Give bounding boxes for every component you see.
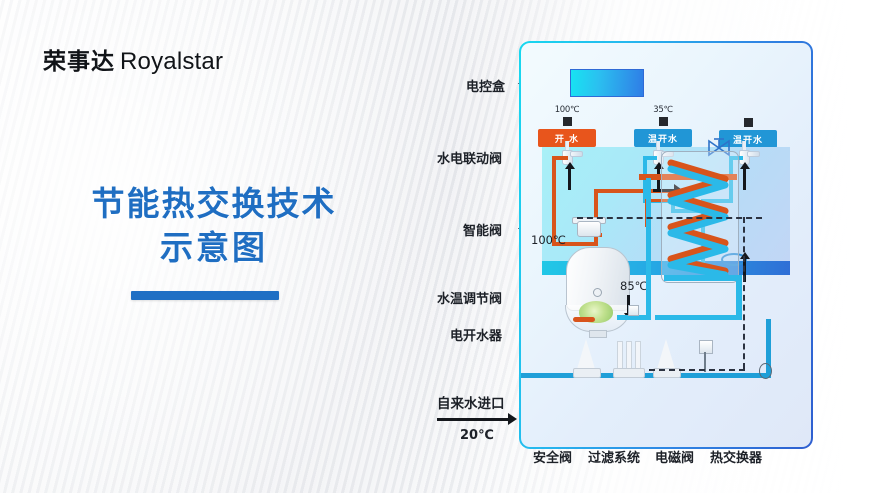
tap-3-temperature <box>719 105 777 116</box>
boiler-gauge-icon <box>593 288 602 297</box>
hx-bottom-run <box>655 315 742 320</box>
tap-3-indicator-dot <box>744 118 753 127</box>
label-water-inlet: 自来水进口 <box>437 392 505 412</box>
drain-outlet-port <box>759 363 772 379</box>
boiler-outlet-valve <box>628 305 639 316</box>
label-safety-valve: 安全阀 <box>533 447 572 466</box>
drain-dash-vertical <box>743 217 745 369</box>
tap-2-indicator-dot <box>659 117 668 126</box>
boiler-bottom-hot-pipe <box>573 317 595 322</box>
label-water-electric-valve: 水电联动阀 <box>437 148 502 167</box>
tap-2-temperature: 35℃ <box>634 105 692 115</box>
label-temp-regulating-valve: 水温调节阀 <box>437 288 502 307</box>
water-inlet-arrow-head <box>508 413 517 425</box>
brand-logo: 荣事达Royalstar <box>43 42 223 76</box>
inline-temp-100: 100℃ <box>531 233 566 247</box>
hx-bottom-outlet <box>664 275 742 281</box>
appliance-unit-frame: 100℃ 开 水 35℃ 温开水 温开水 <box>519 41 813 449</box>
diagram-canvas: 荣事达Royalstar 节能热交换技术 示意图 电控盒 水电联动阀 智能阀 水… <box>0 0 875 493</box>
cool-return-riser <box>646 178 651 320</box>
hx-outlet-riser <box>736 275 742 319</box>
brand-logo-chinese: 荣事达 <box>43 49 115 75</box>
page-title: 节能热交换技术 示意图 <box>64 182 364 270</box>
faucet-3-spout <box>747 151 760 157</box>
label-solenoid-valve: 电磁阀 <box>655 447 694 466</box>
drain-dash-bottom <box>649 369 745 371</box>
solenoid-valve <box>699 340 713 354</box>
label-smart-valve: 智能阀 <box>463 220 502 239</box>
faucet-1-spout <box>570 151 583 157</box>
page-title-line1: 节能热交换技术 <box>64 182 364 226</box>
label-control-box: 电控盒 <box>466 76 505 95</box>
control-box <box>570 69 644 97</box>
label-filter-system: 过滤系统 <box>588 447 640 466</box>
smart-valve <box>577 221 601 237</box>
water-inlet-arrow-stem <box>437 418 510 421</box>
label-electric-boiler: 电开水器 <box>450 325 502 344</box>
inline-temp-85: 85℃ <box>620 279 648 293</box>
mains-cold-feed <box>521 373 771 378</box>
boiler-foot <box>589 330 607 338</box>
drain-dash-top <box>577 217 762 219</box>
title-underline-bar <box>131 291 279 300</box>
appliance-unit-body: 100℃ 开 水 35℃ 温开水 温开水 <box>521 43 811 447</box>
tap-1-indicator-dot <box>563 117 572 126</box>
tap-1-temperature: 100℃ <box>538 105 596 115</box>
brand-logo-english: Royalstar <box>120 48 223 75</box>
page-title-line2: 示意图 <box>64 226 364 270</box>
label-water-inlet-temperature: 20℃ <box>460 428 494 443</box>
label-heat-exchanger: 热交换器 <box>710 447 762 466</box>
